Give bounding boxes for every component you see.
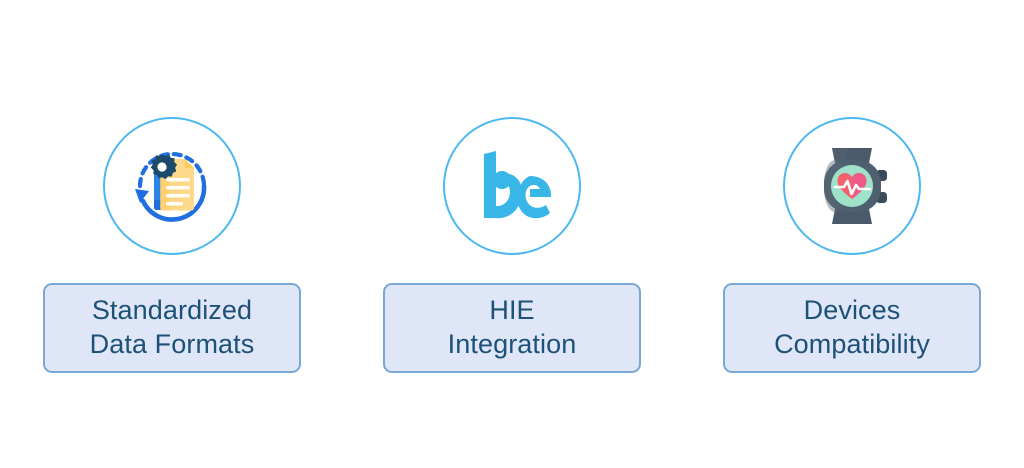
icon-badge-devices-compatibility <box>783 117 921 255</box>
feature-row: Standardized Data Formats <box>0 0 1024 468</box>
feature-label-hie-integration: HIE Integration <box>383 283 641 373</box>
document-gear-sync-icon <box>122 136 222 236</box>
feature-label-devices-compatibility: Devices Compatibility <box>723 283 981 373</box>
icon-badge-hie-integration <box>443 117 581 255</box>
smartwatch-heartrate-icon <box>802 136 902 236</box>
feature-label-line-1: HIE <box>489 294 534 328</box>
feature-card-devices-compatibility[interactable]: Devices Compatibility <box>702 0 1002 373</box>
feature-label-line-2: Compatibility <box>774 328 930 362</box>
feature-label-line-1: Standardized <box>92 294 252 328</box>
feature-label-standardized-data-formats: Standardized Data Formats <box>43 283 301 373</box>
hie-logo-icon <box>462 136 562 236</box>
feature-card-standardized-data-formats[interactable]: Standardized Data Formats <box>22 0 322 373</box>
feature-label-line-2: Data Formats <box>90 328 255 362</box>
feature-label-line-2: Integration <box>448 328 577 362</box>
feature-card-hie-integration[interactable]: HIE Integration <box>362 0 662 373</box>
icon-badge-standardized-data-formats <box>103 117 241 255</box>
feature-label-line-1: Devices <box>804 294 901 328</box>
feature-board: Standardized Data Formats <box>0 0 1024 468</box>
